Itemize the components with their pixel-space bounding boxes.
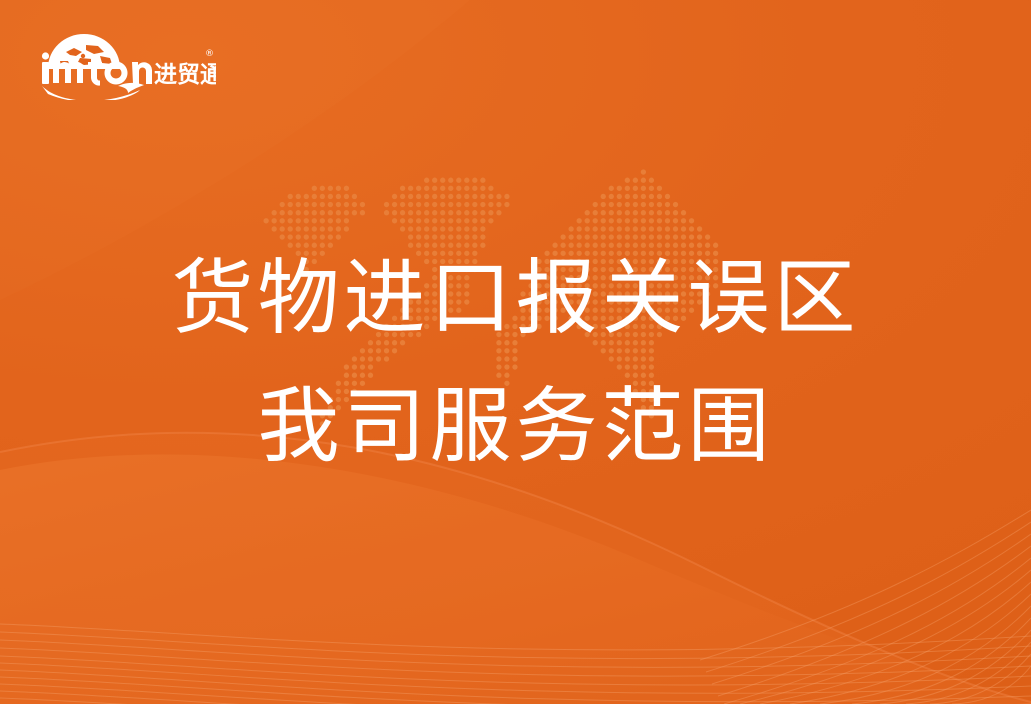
- headline-line-1: 货物进口报关误区: [0, 258, 1031, 340]
- logo-wordmark-chinese: 进贸通: [154, 62, 216, 88]
- registered-trademark-icon: ®: [205, 49, 214, 59]
- headline-block: 货物进口报关误区 我司服务范围: [0, 258, 1031, 468]
- swoosh-icon: [42, 83, 144, 100]
- presentation-slide: 进贸通 ® 货物进口报关误区 我司服务范围: [0, 0, 1031, 704]
- headline-line-2: 我司服务范围: [0, 386, 1031, 468]
- company-logo: 进贸通 ®: [36, 28, 216, 100]
